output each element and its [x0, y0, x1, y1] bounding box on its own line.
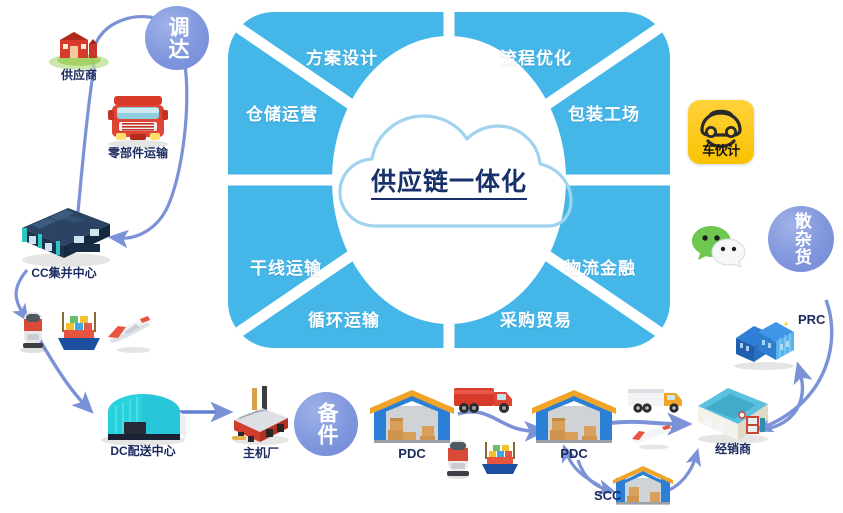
node-oem-plant[interactable]: 主机厂 — [228, 386, 294, 448]
hub-segment-caigou-maoyi[interactable]: 采购贸易 — [500, 306, 572, 331]
node-dc-center[interactable]: DC配送中心 — [96, 386, 190, 448]
cargo-ship-icon — [58, 312, 100, 350]
factory-icon — [228, 386, 294, 448]
label-prc: PRC — [798, 312, 825, 327]
node-mid-truck2[interactable] — [626, 386, 688, 418]
diagram-canvas: 供应链一体化 方案设计 流程优化 仓储运营 包装工场 干线运输 物流金融 循环运… — [0, 0, 843, 512]
node-multimodal[interactable] — [14, 306, 150, 356]
node-mid-ship[interactable] — [478, 440, 522, 478]
app-chehuoji-label: 车伙计 — [688, 140, 754, 159]
hub-segment-cangchu-yunying[interactable]: 仓储运营 — [246, 100, 318, 125]
hub-segment-baozhuang-gongchang[interactable]: 包装工场 — [568, 100, 640, 125]
app-chehuoji[interactable]: 车伙计 — [688, 100, 754, 164]
hub-segment-wuliu-jinrong[interactable]: 物流金融 — [564, 254, 636, 279]
node-mid-truck[interactable] — [452, 384, 516, 418]
warehouse-dark-icon — [12, 198, 116, 270]
airplane-icon — [630, 424, 674, 450]
label-supplier: 供应商 — [61, 66, 97, 83]
hub-segment-ganxian-yunshu[interactable]: 干线运输 — [250, 254, 322, 279]
label-scc: SCC — [594, 488, 621, 503]
label-cc-center: CC集并中心 — [31, 264, 96, 281]
node-pdc-right[interactable]: PDC — [528, 388, 620, 448]
node-supplier[interactable]: 供应商 — [48, 22, 110, 70]
white-box-truck-icon — [626, 386, 688, 418]
node-scc[interactable]: SCC — [610, 464, 676, 508]
tag-sanzahuo[interactable]: 散杂货 — [768, 206, 834, 272]
supply-chain-hub: 供应链一体化 方案设计 流程优化 仓储运营 包装工场 干线运输 物流金融 循环运… — [228, 12, 670, 348]
arrow-pdc-to-scc — [578, 460, 608, 490]
tag-beijian[interactable]: 备件 — [294, 392, 358, 456]
label-oem-plant: 主机厂 — [243, 444, 279, 461]
train-icon — [20, 312, 46, 353]
wechat-icon — [690, 222, 748, 270]
label-pdc-right: PDC — [560, 446, 587, 461]
hub-segment-xunhuan-yunshu[interactable]: 循环运输 — [308, 306, 380, 331]
node-parts-transit[interactable]: 零部件运输 — [100, 88, 176, 150]
label-pdc-left: PDC — [398, 446, 425, 461]
hub-segment-liucheng-youhua[interactable]: 流程优化 — [500, 44, 572, 69]
red-trailer-truck-icon — [452, 384, 516, 418]
house-shop-icon — [690, 382, 776, 448]
cargo-ship-icon — [478, 440, 522, 478]
tag-diaoda[interactable]: 调达 — [145, 6, 209, 70]
red-truck-icon — [100, 88, 176, 150]
office-building-icon — [728, 318, 802, 372]
hub-title: 供应链一体化 — [228, 162, 670, 198]
warehouse-boxes-icon — [528, 388, 620, 448]
hub-segment-fangan-sheji[interactable]: 方案设计 — [306, 44, 378, 69]
label-dealer: 经销商 — [715, 440, 751, 457]
train-icon — [444, 436, 472, 480]
dome-warehouse-icon — [96, 386, 190, 448]
node-mid-plane[interactable] — [630, 424, 674, 450]
arrow-supplier-descend — [78, 74, 93, 212]
label-dc-center: DC配送中心 — [110, 442, 175, 459]
node-cc-center[interactable]: CC集并中心 — [12, 198, 116, 270]
app-wechat[interactable] — [690, 222, 748, 270]
node-prc[interactable]: PRC — [728, 318, 802, 372]
node-dealer[interactable]: 经销商 — [690, 382, 776, 448]
airplane-icon — [108, 316, 150, 353]
node-mid-train[interactable] — [444, 436, 472, 480]
farm-barn-icon — [48, 22, 110, 70]
label-parts-transit: 零部件运输 — [108, 144, 168, 161]
